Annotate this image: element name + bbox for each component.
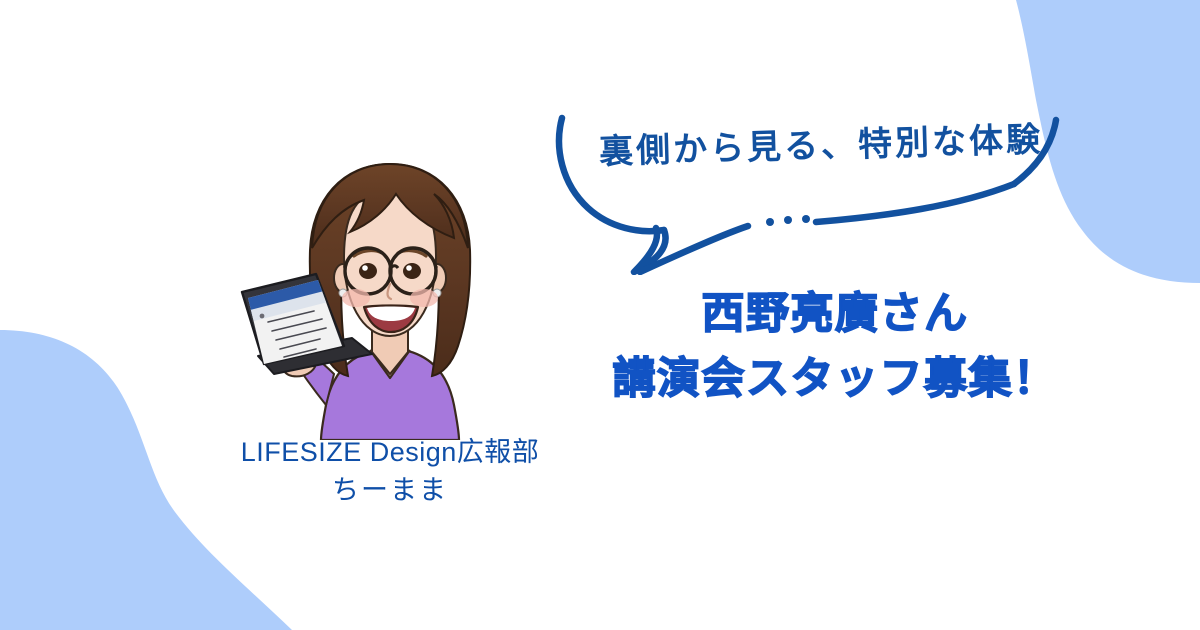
eye-left (359, 263, 377, 279)
eye-highlight-right (406, 265, 412, 271)
poster-canvas: LIFESIZE Design広報部 ちーまま (0, 0, 1200, 630)
eye-right (403, 263, 421, 279)
eye-highlight-left (362, 265, 368, 271)
headline-line-2: 講演会スタッフ募集！ (600, 347, 1070, 412)
bubble-ellipsis-icon (766, 215, 810, 226)
headline: 西野亮廣さん 講演会スタッフ募集！ (600, 282, 1070, 413)
headline-line-1: 西野亮廣さん (600, 282, 1070, 347)
cheek-right (410, 289, 438, 307)
presenter-block: LIFESIZE Design広報部 ちーまま (180, 150, 600, 520)
caption: LIFESIZE Design広報部 ちーまま (180, 433, 600, 510)
caption-line-1: LIFESIZE Design広報部 (241, 437, 540, 467)
bubble-right-line (816, 184, 1014, 222)
speech-bubble: 裏側から見る、特別な体験 (548, 100, 1088, 275)
caption-line-2: ちーまま (180, 471, 600, 509)
presenter-illustration (230, 150, 550, 440)
cheek-left (342, 289, 370, 307)
